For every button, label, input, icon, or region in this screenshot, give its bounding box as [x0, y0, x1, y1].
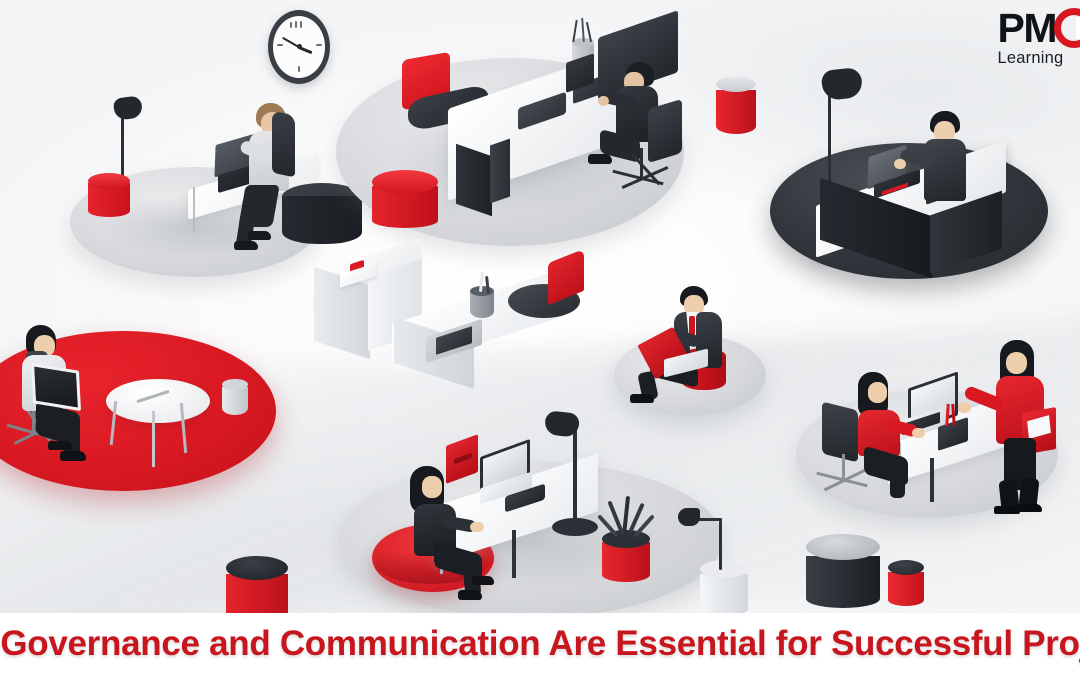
- floor-lamp-pole: [828, 89, 831, 185]
- person-standing: [916, 111, 986, 231]
- clock-tick: [290, 22, 292, 28]
- clock-tick: [300, 21, 302, 28]
- red-cylinder-bottom-right: [888, 560, 924, 606]
- person-standing-red-jacket: [986, 340, 1076, 520]
- scene-center-blocks: [300, 250, 600, 400]
- logo-subtitle: Learning: [998, 49, 1080, 68]
- bin-side: [222, 387, 248, 415]
- cylinder-top: [888, 560, 924, 575]
- person-shoe: [248, 231, 271, 240]
- cylinder-top: [716, 76, 756, 92]
- pen: [485, 276, 490, 294]
- logo-wordmark: PM: [998, 8, 1080, 48]
- clock-tick: [277, 44, 283, 46]
- desk-leg: [193, 187, 195, 233]
- cylinder-top: [806, 534, 880, 560]
- white-cylinder-pedestal: [700, 560, 748, 616]
- dark-cylinder-bottom-right: [806, 534, 880, 608]
- person-shoe: [234, 241, 258, 250]
- round-table-leg: [152, 411, 155, 467]
- logo-main-text: PM: [998, 9, 1057, 48]
- bin-top: [222, 379, 248, 390]
- person-shoe: [48, 441, 72, 450]
- floor-lamp-head: [821, 67, 864, 101]
- floor-lamp-pole: [573, 420, 577, 528]
- scene-bottom-center: [330, 418, 730, 638]
- desk-lamp-pole: [719, 520, 722, 570]
- pmc-learning-logo[interactable]: PM Learning: [998, 8, 1080, 68]
- pen: [581, 18, 585, 42]
- person-shoe: [458, 590, 482, 600]
- person-head: [1006, 352, 1027, 374]
- office-chair-back: [272, 111, 295, 178]
- person-shoe: [630, 394, 654, 403]
- clock-tick: [316, 44, 322, 46]
- person-hand: [598, 96, 609, 106]
- scene-top-left: [60, 75, 330, 285]
- person-shoe: [60, 451, 86, 461]
- person-suit: [924, 139, 966, 201]
- person-shoe-sole: [1016, 504, 1042, 512]
- person-head: [868, 382, 887, 403]
- person-head: [422, 476, 442, 498]
- scene-left-red: [0, 305, 290, 505]
- cylinder-side: [700, 574, 748, 616]
- person-shin: [890, 470, 905, 498]
- stool-top: [88, 173, 130, 189]
- person-hand: [470, 522, 484, 532]
- page-title: y Governance and Communication Are Essen…: [0, 624, 1080, 664]
- person-hand: [958, 402, 971, 413]
- person-hand: [894, 159, 906, 169]
- floor-lamp-head: [113, 95, 144, 121]
- clock-tick: [298, 66, 300, 72]
- scene-top-center: [330, 8, 690, 258]
- person-shoe: [588, 154, 612, 164]
- waste-bin: [222, 379, 248, 415]
- cylinder-top: [700, 560, 748, 578]
- cylinder-side: [806, 556, 880, 608]
- title-band: y Governance and Communication Are Essen…: [0, 613, 1080, 675]
- desk-pedestal: [456, 144, 492, 216]
- illustration-canvas: PM Learning y Governance and Communicati…: [0, 0, 1080, 675]
- floor-lamp-base: [552, 518, 598, 536]
- scene-top-right: [758, 55, 1058, 285]
- person-shoe: [472, 576, 494, 585]
- desk-pedestal-side: [490, 139, 510, 204]
- red-cylinder-small-top: [716, 76, 756, 134]
- scene-bottom-right: [790, 318, 1070, 538]
- logo-c-mark-icon: [1054, 8, 1080, 48]
- office-chair-back: [648, 99, 682, 163]
- scene-center-right: [600, 272, 780, 442]
- laptop-screen: [31, 363, 81, 411]
- cylinder-side: [716, 90, 756, 134]
- pouf-top: [372, 170, 438, 194]
- desk-leg: [512, 530, 516, 578]
- clock-center-pin: [297, 44, 302, 49]
- person-hand: [912, 428, 925, 438]
- office-chair-column: [842, 454, 845, 480]
- wall-clock: [268, 10, 330, 84]
- red-pouf: [372, 170, 438, 228]
- person-seated-red-top: [846, 372, 936, 502]
- person-on-beanbag: [400, 466, 500, 606]
- red-planter: [602, 530, 650, 582]
- clock-tick: [295, 21, 297, 28]
- cylinder-top: [226, 556, 288, 580]
- planter-side: [602, 542, 650, 582]
- desk-lamp-head: [678, 508, 700, 526]
- cylinder-side: [888, 572, 924, 606]
- round-table-top: [106, 379, 210, 423]
- red-stool: [88, 173, 130, 217]
- logo-ring-cut: [1076, 17, 1080, 39]
